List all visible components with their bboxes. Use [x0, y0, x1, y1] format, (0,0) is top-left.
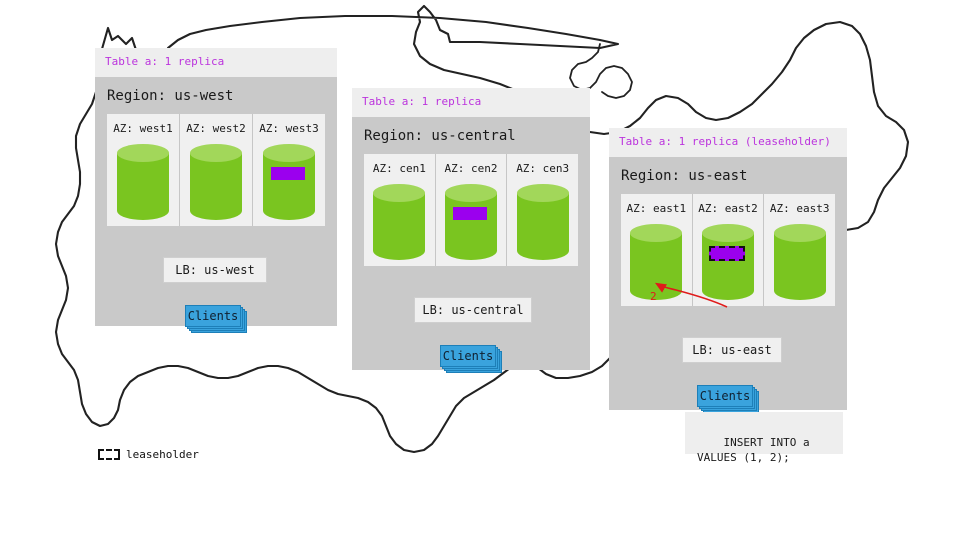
arrow-step-label-2: 2: [650, 290, 657, 303]
diagram-canvas: leaseholder Table a: 1 replica Region: u…: [0, 0, 960, 540]
request-arrow-layer: [0, 0, 960, 540]
request-arrow-2: [657, 284, 727, 307]
